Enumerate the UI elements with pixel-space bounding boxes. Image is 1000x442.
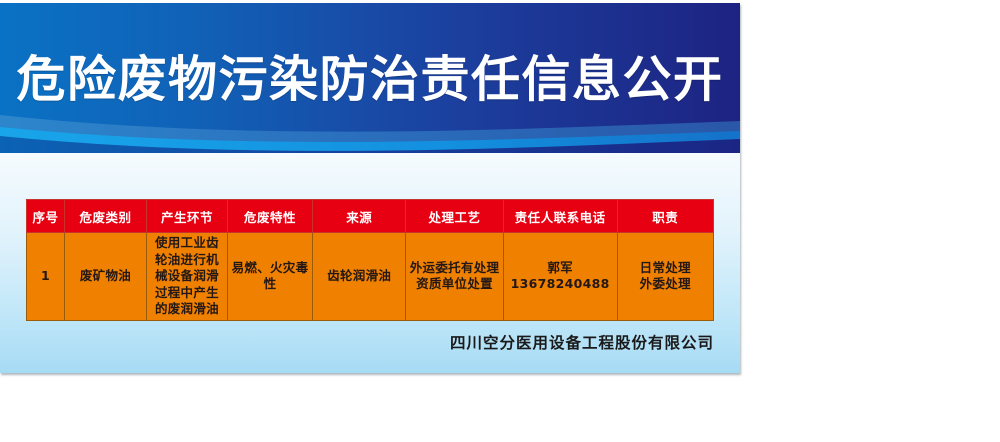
cell-contact: 郭军 13678240488 <box>503 233 617 321</box>
contact-phone: 13678240488 <box>507 276 614 293</box>
table-header-row: 序号 危废类别 产生环节 危废特性 来源 处理工艺 责任人联系电话 职责 <box>27 200 714 233</box>
company-name: 四川空分医用设备工程股份有限公司 <box>0 331 714 353</box>
page-title: 危险废物污染防治责任信息公开 <box>0 55 740 104</box>
table-row: 1 废矿物油 使用工业齿轮油进行机械设备润滑过程中产生的废润滑油 易燃、火灾毒性… <box>27 233 714 321</box>
hazardous-waste-table: 序号 危废类别 产生环节 危废特性 来源 处理工艺 责任人联系电话 职责 1 废… <box>26 199 714 321</box>
column-header-index: 序号 <box>27 200 65 233</box>
column-header-contact: 责任人联系电话 <box>503 200 617 233</box>
column-header-characteristics: 危废特性 <box>227 200 312 233</box>
cell-characteristics: 易燃、火灾毒性 <box>227 233 312 321</box>
header-banner: 危险废物污染防治责任信息公开 <box>0 3 740 153</box>
cell-index: 1 <box>27 233 65 321</box>
hazardous-waste-table-container: 序号 危废类别 产生环节 危废特性 来源 处理工艺 责任人联系电话 职责 1 废… <box>26 199 714 321</box>
contact-name: 郭军 <box>507 260 614 277</box>
cell-source: 齿轮润滑油 <box>313 233 406 321</box>
duty-line-2: 外委处理 <box>621 276 710 293</box>
column-header-category: 危废类别 <box>64 200 146 233</box>
column-header-source: 来源 <box>313 200 406 233</box>
cell-process: 外运委托有处理资质单位处置 <box>406 233 503 321</box>
column-header-process: 处理工艺 <box>406 200 503 233</box>
poster-board: 危险废物污染防治责任信息公开 序号 危废类别 产生环节 危废特性 来源 处理工艺… <box>0 3 740 373</box>
column-header-duty: 职责 <box>617 200 713 233</box>
cell-generation: 使用工业齿轮油进行机械设备润滑过程中产生的废润滑油 <box>146 233 227 321</box>
cell-duty: 日常处理 外委处理 <box>617 233 713 321</box>
cell-category: 废矿物油 <box>64 233 146 321</box>
duty-line-1: 日常处理 <box>621 260 710 277</box>
column-header-generation: 产生环节 <box>146 200 227 233</box>
